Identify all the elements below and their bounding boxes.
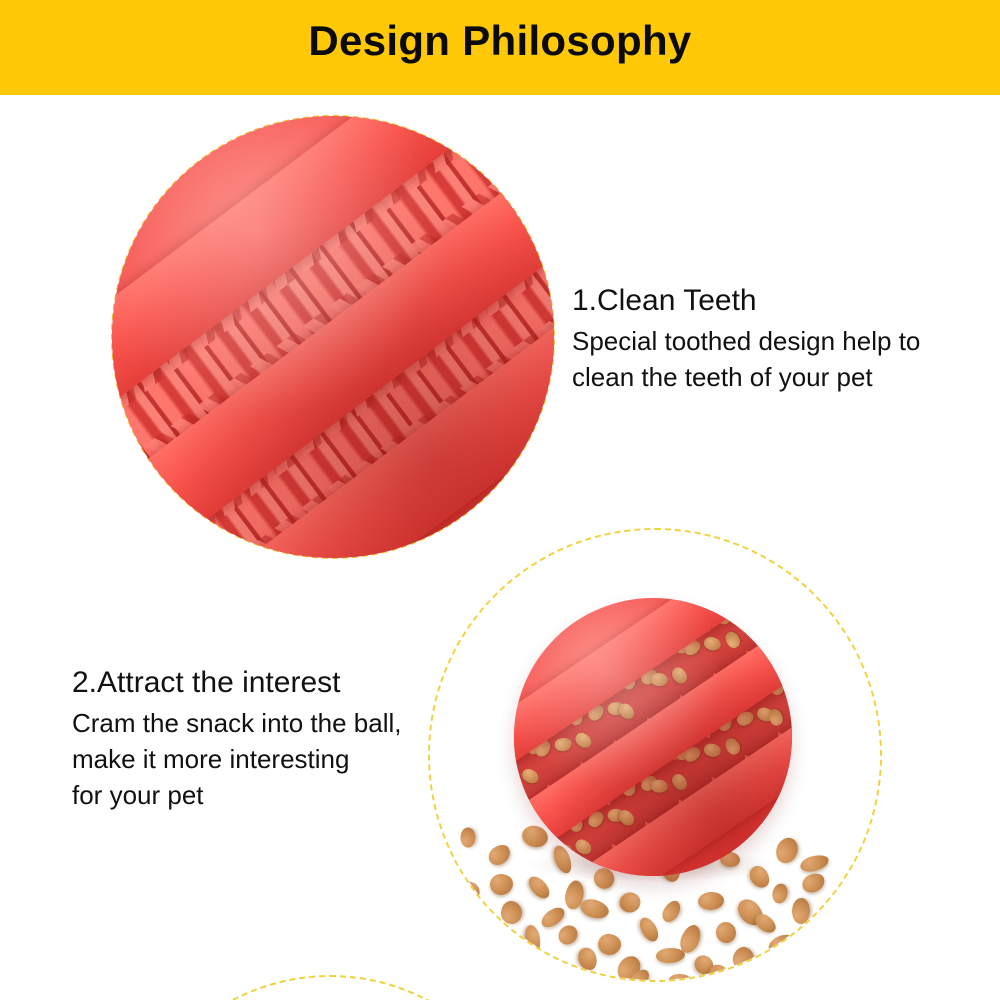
feature-body-1-line-2: clean the teeth of your pet [572, 360, 920, 396]
kibble-piece [697, 891, 724, 911]
kibble-piece [532, 955, 556, 975]
kibble-piece [669, 771, 690, 792]
kibble-piece [485, 841, 514, 869]
kibble-piece [626, 966, 653, 980]
kibble-piece [501, 901, 522, 924]
kibble-piece [525, 873, 554, 902]
kibble-piece [669, 664, 690, 685]
kibble-piece [617, 890, 644, 916]
feature-heading-2: 2.Attract the interest [72, 665, 402, 700]
feature-body-2: Cram the snack into the ball, make it mo… [72, 706, 402, 814]
kibble-piece [520, 766, 541, 785]
kibble-piece [573, 837, 594, 857]
kibble-piece [677, 922, 705, 956]
kibble-piece [703, 742, 722, 758]
feature-heading-1: 1.Clean Teeth [572, 283, 920, 318]
kibble-piece [703, 635, 722, 651]
feature-text-clean-teeth: 1.Clean Teeth Special toothed design hel… [572, 283, 920, 396]
kibble-piece [799, 870, 827, 896]
product-infographic-page: Design Philosophy 1.Clean Teeth Special … [0, 0, 1000, 1000]
kibble-piece [538, 904, 568, 931]
kibble-piece [461, 828, 476, 848]
dashed-circle-outline-3 [120, 975, 540, 1000]
kibble-piece [636, 914, 662, 944]
kibble-piece [520, 873, 541, 876]
kibble-piece [792, 898, 811, 925]
feature-text-attract-interest: 2.Attract the interest Cram the snack in… [72, 665, 402, 814]
feature-body-2-line-3: for your pet [72, 778, 402, 814]
kibble-piece [714, 920, 738, 945]
feature-body-2-line-2: make it more interesting [72, 742, 402, 778]
kibble-piece [722, 736, 742, 757]
kibble-piece [613, 952, 645, 980]
kibble-piece [656, 947, 686, 963]
page-header-banner: Design Philosophy [0, 0, 1000, 95]
kibble-piece [752, 910, 779, 936]
kibble-piece [553, 843, 573, 860]
kibble-piece [553, 736, 573, 753]
kibble-piece [489, 873, 514, 896]
kibble-piece [491, 944, 527, 978]
kibble-piece [733, 895, 768, 931]
feature-body-1-line-1: Special toothed design help to [572, 324, 920, 360]
kibble-piece [722, 629, 742, 650]
kibble-piece [691, 952, 718, 979]
page-title: Design Philosophy [308, 20, 691, 76]
kibble-piece [514, 771, 520, 789]
kibble-piece [457, 878, 484, 904]
kibble-piece [650, 672, 667, 686]
treat-dispensing-ball [514, 598, 792, 876]
kibble-piece [573, 730, 594, 750]
feature-image-attract-interest [430, 530, 880, 980]
kibble-piece [555, 922, 582, 949]
kibble-piece [545, 968, 579, 980]
kibble-piece [578, 896, 611, 922]
kibble-piece [799, 853, 831, 875]
kibble-piece [563, 879, 586, 911]
feature-body-1: Special toothed design help to clean the… [572, 324, 920, 396]
kibble-piece [650, 779, 667, 793]
kibble-piece [771, 882, 790, 905]
feature-body-2-line-1: Cram the snack into the ball, [72, 706, 402, 742]
kibble-piece [772, 835, 801, 867]
kibble-piece [659, 898, 684, 925]
feature-image-clean-teeth [112, 116, 554, 558]
kibble-piece [597, 933, 622, 957]
